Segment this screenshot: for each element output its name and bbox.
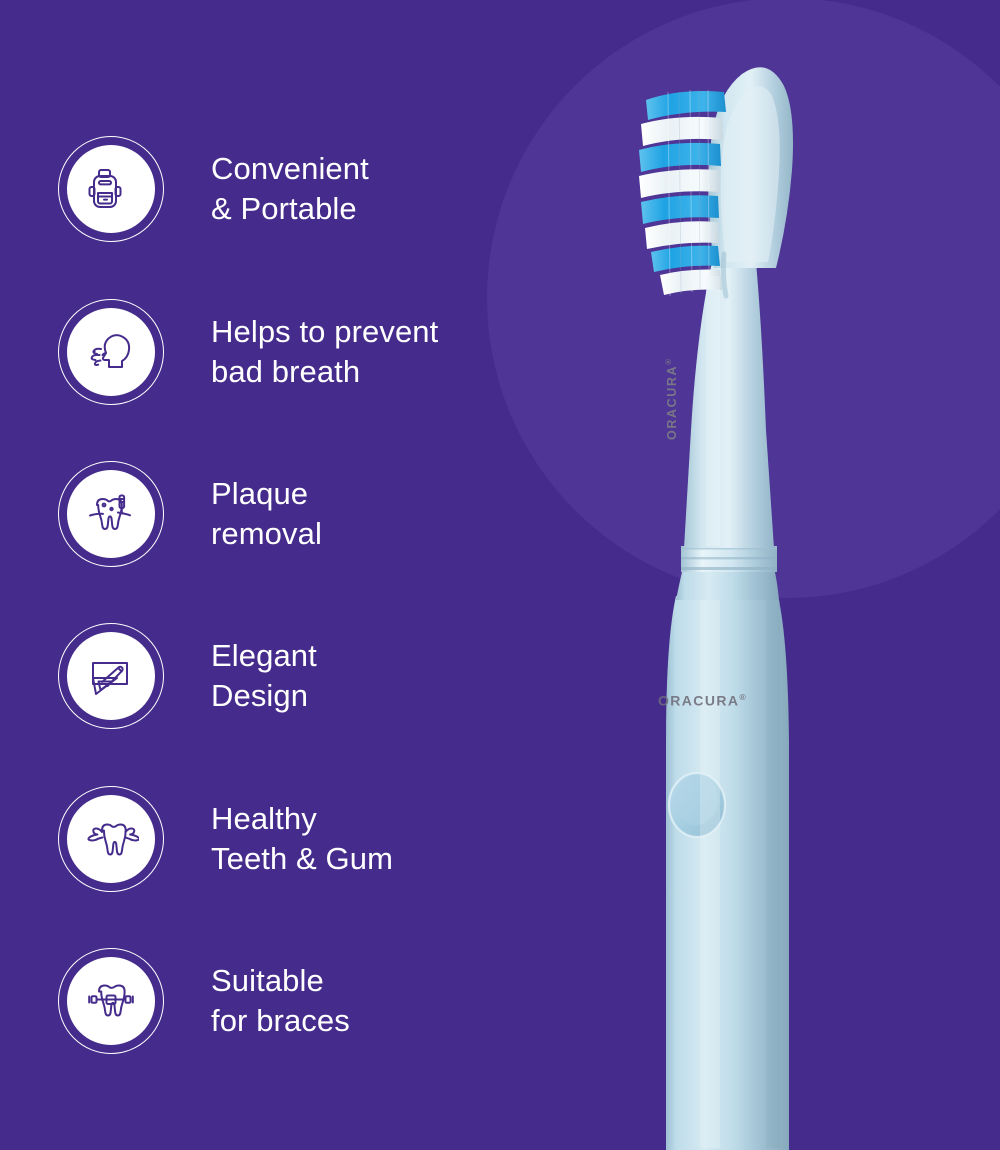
feature-label: Healthy Teeth & Gum: [211, 799, 393, 878]
feature-item-convenient-portable[interactable]: Convenient & Portable: [58, 136, 369, 242]
brand-logo-vertical: ORACURA®: [664, 348, 679, 440]
feature-icon-badge: [58, 299, 164, 405]
feature-icon-badge: [58, 461, 164, 567]
head-breath-icon: [67, 308, 155, 396]
feature-icon-badge: [58, 786, 164, 892]
feature-item-bad-breath[interactable]: Helps to prevent bad breath: [58, 299, 438, 405]
feature-label: Convenient & Portable: [211, 149, 369, 228]
feature-item-elegant-design[interactable]: Elegant Design: [58, 623, 317, 729]
registered-symbol-horizontal: ®: [739, 692, 745, 702]
feature-list: Convenient & Portable Helps to prevent b…: [0, 0, 560, 1150]
brand-text-horizontal: ORACURA: [658, 693, 739, 709]
feature-label: Elegant Design: [211, 636, 317, 715]
registered-symbol-vertical: ®: [664, 359, 673, 365]
feature-item-suitable-braces[interactable]: Suitable for braces: [58, 948, 350, 1054]
feature-label: Suitable for braces: [211, 961, 350, 1040]
tooth-braces-icon: [67, 957, 155, 1045]
promo-canvas: ORACURA® ORACURA®: [0, 0, 1000, 1150]
drawing-board-icon: [67, 632, 155, 720]
feature-item-plaque-removal[interactable]: Plaque removal: [58, 461, 322, 567]
tooth-muscle-icon: [67, 795, 155, 883]
feature-label: Plaque removal: [211, 474, 322, 553]
tooth-scaler-icon: [67, 470, 155, 558]
backpack-icon: [67, 145, 155, 233]
feature-icon-badge: [58, 136, 164, 242]
feature-icon-badge: [58, 623, 164, 729]
brand-logo-horizontal: ORACURA®: [658, 692, 746, 709]
background-accent-circle: [487, 0, 1000, 598]
feature-label: Helps to prevent bad breath: [211, 312, 438, 391]
brand-text-vertical: ORACURA: [665, 365, 679, 440]
feature-icon-badge: [58, 948, 164, 1054]
feature-item-healthy-teeth-gum[interactable]: Healthy Teeth & Gum: [58, 786, 393, 892]
